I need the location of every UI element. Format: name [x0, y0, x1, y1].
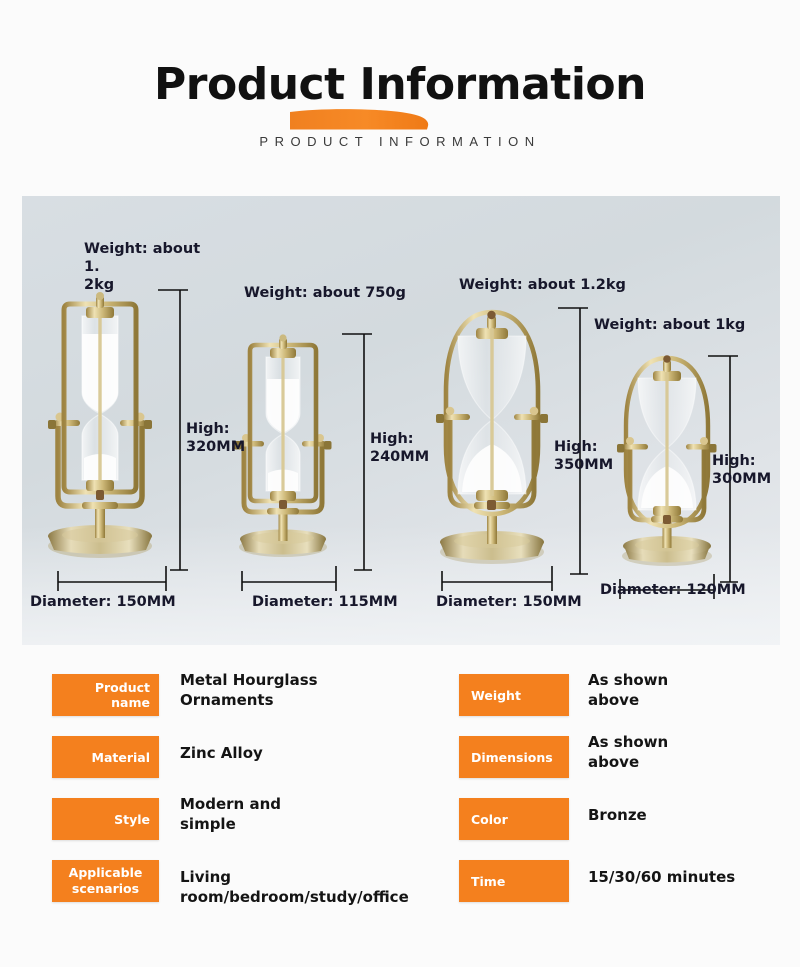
spec-key-style: Style [52, 798, 159, 840]
spec-key-applicable-scenarios: Applicable scenarios [52, 860, 159, 902]
spec-column-left: Product name Metal Hourglass Ornaments M… [52, 668, 452, 916]
hourglass-2-weight-label: Weight: about 750g [244, 284, 406, 302]
page-subtitle: PRODUCT INFORMATION [0, 134, 800, 149]
hourglass-1-diameter-label: Diameter: 150MM [30, 594, 176, 611]
hourglass-2-height-measure [324, 328, 374, 576]
spec-key-dimensions: Dimensions [459, 736, 569, 778]
hourglass-1-weight-label: Weight: about 1. 2kg [84, 240, 219, 294]
spec-key-time: Time [459, 860, 569, 902]
page-title-wrap: Product Information [0, 62, 800, 108]
specification-table: Product name Metal Hourglass Ornaments M… [0, 668, 800, 918]
title-brush-swash-icon [290, 108, 442, 130]
hourglass-2-diameter-label: Diameter: 115MM [252, 594, 398, 611]
spec-value-material: Zinc Alloy [180, 743, 450, 763]
spec-key-material: Material [52, 736, 159, 778]
hourglass-2-diameter-measure [224, 566, 354, 592]
spec-row-product-name: Product name Metal Hourglass Ornaments [52, 668, 452, 730]
spec-row-style: Style Modern and simple [52, 792, 452, 854]
spec-row-dimensions: Dimensions As shown above [459, 730, 789, 792]
hourglass-2-height-label: High: 240MM [370, 431, 429, 466]
hourglass-3-weight-label: Weight: about 1.2kg [459, 276, 626, 294]
spec-key-color: Color [459, 798, 569, 840]
hourglass-4-diameter-label: Diameter: 120MM [600, 582, 746, 599]
hourglass-4-height-label: High: 300MM [712, 453, 771, 488]
hourglass-1-diameter-measure [38, 566, 183, 592]
spec-row-color: Color Bronze [459, 792, 789, 854]
spec-value-applicable-scenarios: Living room/bedroom/study/office [180, 867, 450, 908]
hourglass-4-weight-label: Weight: about 1kg [594, 316, 745, 334]
spec-value-product-name: Metal Hourglass Ornaments [180, 670, 450, 711]
hourglass-3-diameter-measure [422, 566, 572, 592]
hourglass-1-height-label: High: 320MM [186, 421, 245, 456]
spec-row-applicable-scenarios: Applicable scenarios Living room/bedroom… [52, 854, 452, 916]
spec-key-product-name: Product name [52, 674, 159, 716]
spec-row-weight: Weight As shown above [459, 668, 789, 730]
spec-value-time: 15/30/60 minutes [588, 867, 788, 887]
spec-row-material: Material Zinc Alloy [52, 730, 452, 792]
spec-value-style: Modern and simple [180, 794, 450, 835]
hourglass-3-height-label: High: 350MM [554, 439, 613, 474]
spec-value-weight: As shown above [588, 670, 788, 711]
hourglass-3-diameter-label: Diameter: 150MM [436, 594, 582, 611]
product-photo-panel: Weight: about 1. 2kg High: 320MM Diamete… [22, 196, 780, 645]
product-information-page: Product Information PRODUCT INFORMATION [0, 0, 800, 967]
page-title: Product Information [154, 59, 646, 110]
page-header: Product Information PRODUCT INFORMATION [0, 0, 800, 180]
hourglass-1-height-measure [140, 284, 190, 576]
spec-column-right: Weight As shown above Dimensions As show… [459, 668, 789, 916]
spec-row-time: Time 15/30/60 minutes [459, 854, 789, 916]
spec-key-weight: Weight [459, 674, 569, 716]
spec-value-color: Bronze [588, 805, 788, 825]
spec-value-dimensions: As shown above [588, 732, 788, 773]
